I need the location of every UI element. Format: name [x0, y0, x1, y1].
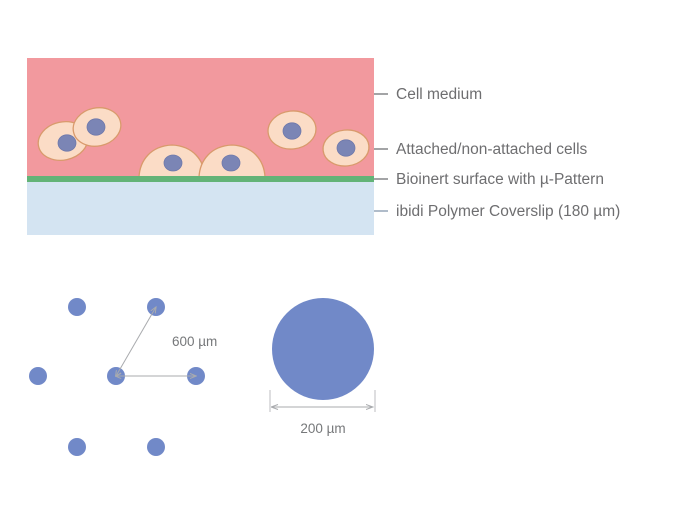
layer-polymer-coverslip: [27, 182, 374, 235]
magnified-pattern-dot: 200 µm: [270, 298, 375, 436]
pattern-dot: [68, 298, 86, 316]
spacing-arrow-diagonal: [116, 307, 156, 376]
cross-section-panel: [27, 58, 374, 235]
magnified-dot-shape: [272, 298, 374, 400]
layer-bioinert-surface: [27, 176, 374, 182]
label-attached-cells: Attached/non-attached cells: [396, 141, 588, 158]
pattern-dot: [147, 438, 165, 456]
spacing-dimension-label: 600 µm: [172, 334, 217, 349]
diameter-dimension-label: 200 µm: [300, 421, 345, 436]
cross-section-legend: Cell medium Attached/non-attached cells …: [374, 86, 620, 220]
label-polymer-coverslip: ibidi Polymer Coverslip (180 µm): [396, 203, 620, 220]
micropattern-dot-array: 600 µm: [29, 298, 217, 456]
pattern-dot: [68, 438, 86, 456]
figure-root: Cell medium Attached/non-attached cells …: [0, 0, 694, 520]
diagram-canvas: Cell medium Attached/non-attached cells …: [0, 0, 694, 520]
label-bioinert-surface: Bioinert surface with µ-Pattern: [396, 171, 604, 188]
pattern-dot: [29, 367, 47, 385]
label-cell-medium: Cell medium: [396, 86, 482, 103]
